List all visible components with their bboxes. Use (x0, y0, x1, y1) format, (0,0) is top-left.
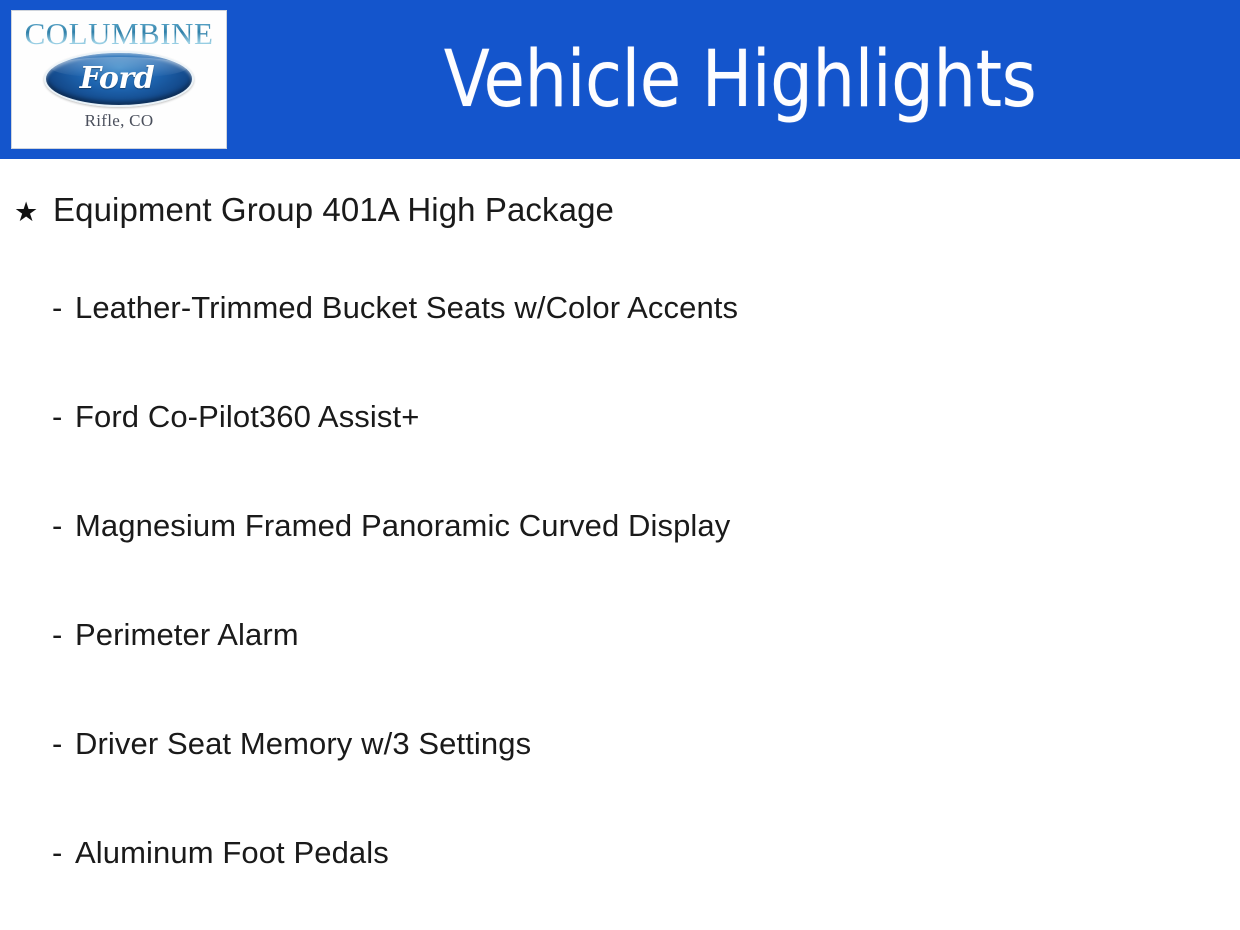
list-item-label: Magnesium Framed Panoramic Curved Displa… (75, 510, 730, 541)
vehicle-highlights-slide: Vehicle Highlights COLUMBINE Ford Rifle,… (0, 0, 1240, 930)
dash-bullet-icon: - (52, 619, 75, 650)
list-item-label: Ford Co-Pilot360 Assist+ (75, 401, 419, 432)
page-title: Vehicle Highlights (260, 0, 1220, 159)
dash-bullet-icon: - (52, 510, 75, 541)
list-item: - Aluminum Foot Pedals (52, 837, 389, 868)
dash-bullet-icon: - (52, 401, 75, 432)
header-band: Vehicle Highlights COLUMBINE Ford Rifle,… (0, 0, 1240, 159)
ford-script-label: Ford (80, 64, 158, 94)
dash-bullet-icon: - (52, 837, 75, 868)
dealer-logo: COLUMBINE Ford Rifle, CO (11, 10, 227, 149)
highlights-content: ★ Equipment Group 401A High Package - Le… (0, 159, 1240, 930)
dash-bullet-icon: - (52, 292, 75, 323)
list-item-label: Perimeter Alarm (75, 619, 299, 650)
list-item: - Perimeter Alarm (52, 619, 299, 650)
dash-bullet-icon: - (52, 728, 75, 759)
main-feature-item: ★ Equipment Group 401A High Package (14, 193, 614, 226)
list-item: - Ford Co-Pilot360 Assist+ (52, 401, 419, 432)
dealer-name-wordmark: COLUMBINE (25, 18, 214, 49)
ford-oval-icon: Ford (44, 51, 194, 107)
list-item-label: Driver Seat Memory w/3 Settings (75, 728, 531, 759)
list-item: - Driver Seat Memory w/3 Settings (52, 728, 531, 759)
list-item: - Leather-Trimmed Bucket Seats w/Color A… (52, 292, 738, 323)
main-feature-label: Equipment Group 401A High Package (53, 193, 614, 226)
list-item: - Magnesium Framed Panoramic Curved Disp… (52, 510, 730, 541)
list-item-label: Aluminum Foot Pedals (75, 837, 389, 868)
list-item-label: Leather-Trimmed Bucket Seats w/Color Acc… (75, 292, 738, 323)
star-bullet-icon: ★ (14, 199, 53, 226)
dealer-location-label: Rifle, CO (85, 112, 154, 129)
